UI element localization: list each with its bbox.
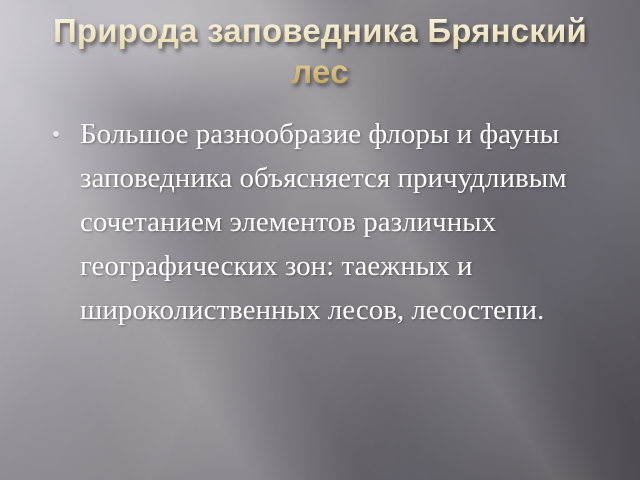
bullet-text: Большое разнообразие флоры и фауны запов… bbox=[80, 112, 604, 332]
presentation-slide: Природа заповедника Брянский лес Большое… bbox=[0, 0, 640, 480]
slide-title: Природа заповедника Брянский лес bbox=[40, 10, 600, 92]
list-item: Большое разнообразие флоры и фауны запов… bbox=[44, 112, 604, 332]
slide-body-bullet-list: Большое разнообразие флоры и фауны запов… bbox=[44, 112, 604, 332]
bullet-point-icon bbox=[53, 131, 59, 137]
